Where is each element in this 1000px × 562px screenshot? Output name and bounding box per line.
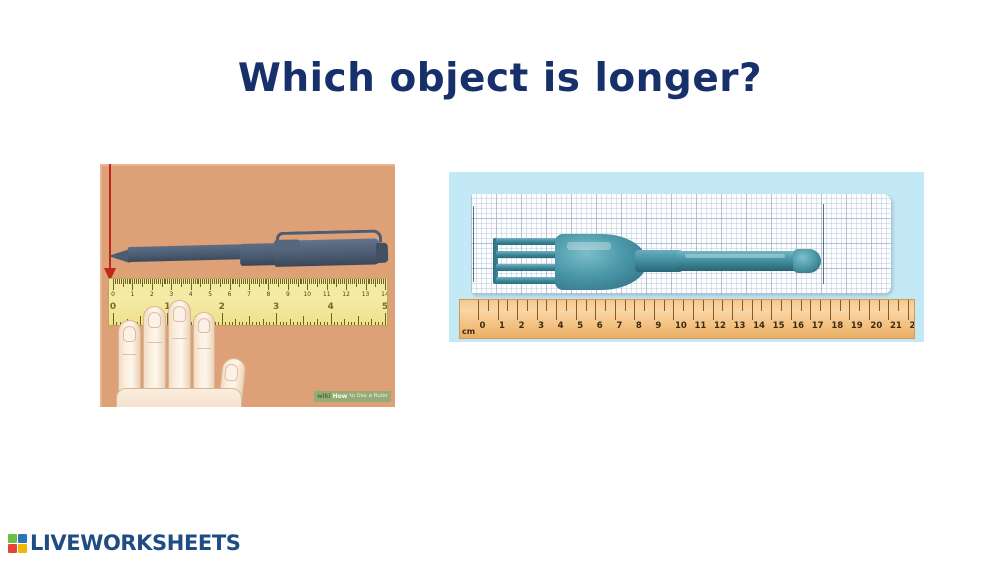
fingernail-index [123,326,136,342]
ruler-tick [214,279,215,284]
ruler-tick [158,279,159,284]
knuckle-line [172,338,187,339]
ruler-tick [216,279,217,284]
ruler-cm-number: 19 [851,322,863,331]
logo-tile-yellow [18,544,27,553]
ruler-tick [237,279,238,284]
ruler-tick-half [527,300,528,311]
ruler-tick-half [859,300,860,311]
ruler-tick [350,279,351,284]
ruler-tick [286,279,287,284]
ruler-tick [319,279,320,284]
ruler-tick [830,300,831,320]
pen-clip-foot [274,239,300,247]
ruler-tick [317,279,318,287]
ruler-tick [183,279,184,284]
ruler-cm-number: 10 [675,322,687,331]
ruler-tick [693,300,694,320]
watermark-how: How [333,394,348,400]
ruler-tick [282,279,283,284]
ruler-tick [307,279,308,290]
ruler-tick [310,322,311,326]
ruler-tick [732,300,733,320]
fork-illustration [493,230,823,302]
ruler-tick [771,300,772,320]
pen-ruler-image: 01234567891011121314 012345 [100,164,395,407]
ruler-cm-number: 21 [890,322,902,331]
ruler-tick [165,279,166,284]
fork-tine [496,277,560,284]
ruler-tick [226,279,227,284]
ruler-cm-number: 13 [362,292,370,298]
ruler-tick [348,279,349,284]
ruler-tick [224,279,225,284]
ruler-tick [171,279,172,290]
ruler-tick [377,279,378,284]
ruler-cm-number: 18 [831,322,843,331]
logo-tile-green [8,534,17,543]
ruler-tick [379,279,380,284]
ruler-tick-half [566,300,567,311]
ruler-tick [179,279,180,284]
ruler-tick [218,279,219,284]
ruler-tick [869,300,870,320]
ruler-cm-number: 10 [303,292,311,298]
ruler-tick [193,279,194,284]
ruler-tick [276,279,277,284]
logo-wordmark: LIVEWORKSHEETS [30,533,241,554]
fork-ruler-image: cm 012345678910111213141516171819202122 [449,172,924,342]
ruler-tick [305,279,306,284]
ruler-cm-number: 0 [480,322,486,331]
ruler-tick [340,279,341,284]
ruler-tick [249,279,250,290]
watermark-rest: to Use a Ruler [349,394,388,400]
ruler-tick [334,322,335,326]
ruler-tick [191,279,192,290]
ruler-tick [361,322,362,326]
ruler-tick-half [507,300,508,311]
ruler-tick [303,279,304,284]
ruler-tick [595,300,596,320]
ruler-tick [341,322,342,326]
ruler-tick [233,279,234,284]
knuckle-line [147,342,162,343]
ruler-tick [125,279,126,284]
ruler-tick [300,322,301,326]
ruler-tick [356,279,357,287]
pen-barrel [128,244,246,262]
ruler-tick [337,322,338,326]
ruler-tick [296,279,297,284]
ruler-tick [381,279,382,284]
ruler-tick [323,279,324,284]
ruler-tick [127,279,128,284]
ruler-tick [144,279,145,284]
ruler-tick [208,279,209,284]
ruler-tick [382,322,383,326]
ruler-tick [268,279,269,290]
ruler-cm-number: 14 [381,292,388,298]
fork-handle-tip [793,249,821,273]
ruler-tick [274,279,275,284]
ruler-tick [369,279,370,284]
ruler-tick [908,300,909,320]
ruler-tick [576,300,577,320]
ruler-tick [121,279,122,284]
ruler-cm-number: 16 [792,322,804,331]
ruler-tick [654,300,655,320]
ruler-tick [351,322,352,326]
page-title: Which object is longer? [0,56,1000,101]
watermark-wiki: wiki [317,394,331,400]
ruler-tick [315,279,316,284]
ruler-tick [309,279,310,284]
ruler-tick [314,322,315,326]
ruler-tick-half [742,300,743,311]
ruler-tick [284,279,285,284]
ruler-tick [257,279,258,284]
fork-highlight [567,242,611,250]
ruler-tick-half [879,300,880,311]
ruler-tick [365,322,366,326]
fingernail-middle [148,312,161,328]
ruler-tick [294,279,295,284]
graph-paper-panel [471,194,891,294]
ruler-tick [266,279,267,284]
ruler-tick [478,300,479,320]
ruler-tick [119,279,120,284]
ruler-tick [150,279,151,284]
ruler-tick [146,279,147,284]
palm [116,388,242,407]
ruler-tick [189,279,190,284]
ruler-tick [278,279,279,287]
liveworksheets-logo[interactable]: LIVEWORKSHEETS [8,533,241,554]
ruler-tick [383,279,384,284]
ruler-tick [375,322,376,326]
ruler-tick-half [898,300,899,311]
ruler-cm-number: 3 [538,322,544,331]
ruler-tick [162,279,163,287]
ruler-tick [331,279,332,284]
ruler-cm-number: 2 [519,322,525,331]
ruler-tick [362,279,363,284]
ruler-cm-number: 17 [812,322,824,331]
ruler-tick [313,279,314,284]
ruler-tick [247,279,248,284]
ruler-tick [517,300,518,320]
ruler-tick [280,279,281,284]
ruler-tick [185,279,186,284]
ruler-cm-number: 4 [558,322,564,331]
ruler-tick [177,279,178,284]
ruler-tick [228,279,229,284]
ruler-tick [136,279,137,284]
ruler-cm-number: 12 [342,292,350,298]
ruler-tick [301,279,302,284]
ruler-cm-number: 13 [734,322,746,331]
ruler-tick [123,279,124,287]
logo-tile-blue [18,534,27,543]
ruler-tick [230,279,231,290]
ruler-cm-number: 6 [597,322,603,331]
ruler-tick [239,279,240,287]
ruler-tick [298,279,299,287]
ruler-tick [197,279,198,284]
ruler-tick [378,322,379,326]
fork-tine [496,238,560,245]
ruler-tick [292,279,293,284]
ruler-tick [235,279,236,284]
ruler-tick [321,279,322,284]
ruler-tick [371,319,372,326]
ruler-tick [373,279,374,284]
ruler-tick [138,279,139,284]
ruler-tick [198,279,199,284]
ruler-tick [293,322,294,326]
ruler-tick [212,279,213,284]
cm-ruler: cm 012345678910111213141516171819202122 [459,299,915,339]
ruler-tick [352,279,353,284]
ruler-tick [288,279,289,290]
ruler-tick-half [781,300,782,311]
ruler-cm-number: 14 [753,322,765,331]
ruler-cm-number: 9 [655,322,661,331]
ruler-tick [329,279,330,284]
ruler-tick [286,322,287,326]
ruler-tick [169,279,170,284]
fingernail-little [198,318,210,333]
ruler-tick [338,279,339,284]
ruler-tick [129,279,130,284]
ruler-tick [181,279,182,287]
ruler-tick [358,279,359,284]
ruler-tick [261,279,262,284]
ruler-tick [366,279,367,290]
measure-end-line [823,204,824,284]
ruler-tick [160,279,161,284]
ruler-tick [371,279,372,284]
ruler-tick [255,279,256,284]
ruler-tick [290,319,291,326]
ruler-tick [320,322,321,326]
ruler-tick-half [644,300,645,311]
ruler-tick [346,279,347,290]
ruler-tick [113,279,114,290]
ruler-tick [241,279,242,284]
ruler-tick [344,319,345,326]
ruler-cm-number: 9 [286,292,290,298]
ruler-tick [206,279,207,284]
ruler-tick [142,279,143,287]
ruler-cm-number: 22 [910,322,916,331]
ruler-tick [164,279,165,284]
ruler-tick [360,279,361,284]
ruler-tick [300,279,301,284]
ruler-tick [222,279,223,284]
ruler-tick [556,300,557,320]
ruler-tick [634,300,635,320]
ruler-tick-half [840,300,841,311]
ruler-tick [673,300,674,320]
ruler-tick [537,300,538,320]
ruler-tick [385,279,386,290]
ruler-tick [303,316,304,326]
pen-illustration [108,230,388,276]
ruler-tick [290,279,291,284]
ruler-tick [791,300,792,320]
ruler-tick [354,322,355,326]
ruler-tick-half [605,300,606,311]
ruler-inch-number: 3 [273,303,279,312]
pen-nib [108,249,130,263]
ruler-tick [220,279,221,287]
ruler-tick [280,322,281,326]
ruler-tick [175,279,176,284]
ruler-inch-number: 5 [382,303,388,312]
ruler-cm-number: 7 [616,322,622,331]
ruler-cm-number: 5 [577,322,583,331]
ruler-tick-half [488,300,489,311]
ruler-tick [156,279,157,284]
ruler-tick [333,279,334,284]
cm-unit-label: cm [462,328,475,336]
ruler-tick [134,279,135,284]
ruler-tick [187,279,188,284]
knuckle-line [197,348,211,349]
ruler-tick [849,300,850,320]
hand-illustration [110,292,270,407]
ruler-cm-number: 8 [636,322,642,331]
ruler-tick [325,279,326,284]
ruler-tick [276,313,277,326]
image-top-edge [100,164,395,166]
ruler-cm-number: 20 [870,322,882,331]
ruler-tick [385,313,386,326]
ruler-tick [334,279,335,284]
ruler-tick [888,300,889,320]
fingernail-ring [173,306,186,322]
ruler-tick [324,322,325,326]
fork-highlight [685,254,785,258]
ruler-tick [752,300,753,320]
ruler-tick [259,279,260,287]
slide-canvas: Which object is longer? 0123456789101112… [0,0,1000,562]
ruler-tick [336,279,337,287]
knuckle-line [122,354,137,355]
ruler-tick [354,279,355,284]
fork-neck [635,250,683,272]
ruler-tick [132,279,133,290]
ruler-tick [317,319,318,326]
ruler-tick [265,279,266,284]
ruler-tick [358,316,359,326]
logo-tile-red [8,544,17,553]
ruler-tick [364,279,365,284]
ruler-tick [272,279,273,284]
ruler-tick [232,279,233,284]
ruler-tick [368,322,369,326]
ruler-tick [327,279,328,290]
ruler-tick [140,279,141,284]
ruler-cm-number: 11 [695,322,707,331]
image-left-edge [100,164,102,407]
ruler-tick [243,279,244,284]
ruler-tick [210,279,211,290]
ruler-tick-half [761,300,762,311]
ruler-tick-half [683,300,684,311]
ruler-tick-half [625,300,626,311]
ruler-tick [368,279,369,284]
ruler-tick-half [664,300,665,311]
ruler-tick [152,279,153,290]
ruler-tick [253,279,254,284]
ruler-cm-number: 15 [773,322,785,331]
ruler-tick-half [820,300,821,311]
ruler-tick-half [703,300,704,311]
ruler-tick [810,300,811,320]
ruler-tick [204,279,205,284]
ruler-cm-number: 12 [714,322,726,331]
ruler-tick [117,279,118,284]
ruler-cm-number: 1 [499,322,505,331]
ruler-tick [713,300,714,320]
ruler-tick [342,279,343,284]
ruler-tick [130,279,131,284]
ruler-tick-half [801,300,802,311]
ruler-tick [331,313,332,326]
ruler-tick [375,279,376,287]
ruler-tick [498,300,499,320]
ruler-tick [270,279,271,284]
ruler-tick [154,279,155,284]
ruler-tick-half [546,300,547,311]
ruler-tick [245,279,246,284]
ruler-tick [297,322,298,326]
ruler-tick-half [586,300,587,311]
ruler-tick [273,322,274,326]
ruler-tick [344,279,345,284]
ruler-tick [327,322,328,326]
logo-grid-icon [8,534,27,553]
ruler-cm-number: 11 [323,292,331,298]
ruler-tick [251,279,252,284]
ruler-tick [615,300,616,320]
measure-start-line [473,206,474,282]
ruler-tick [148,279,149,284]
ruler-tick-half [722,300,723,311]
ruler-tick [283,322,284,326]
pen-grip [240,243,279,266]
ruler-tick [202,279,203,284]
ruler-tick [348,322,349,326]
thumbnail [224,363,239,381]
ruler-tick [195,279,196,284]
ruler-tick [173,279,174,284]
ruler-inch-number: 4 [327,303,333,312]
ruler-tick [200,279,201,287]
ruler-tick [311,279,312,284]
wikihow-watermark: wiki How to Use a Ruler [314,391,391,402]
ruler-tick [307,322,308,326]
ruler-tick [167,279,168,284]
ruler-tick [115,279,116,284]
ruler-tick [263,279,264,284]
pen-cap-end [376,243,388,263]
